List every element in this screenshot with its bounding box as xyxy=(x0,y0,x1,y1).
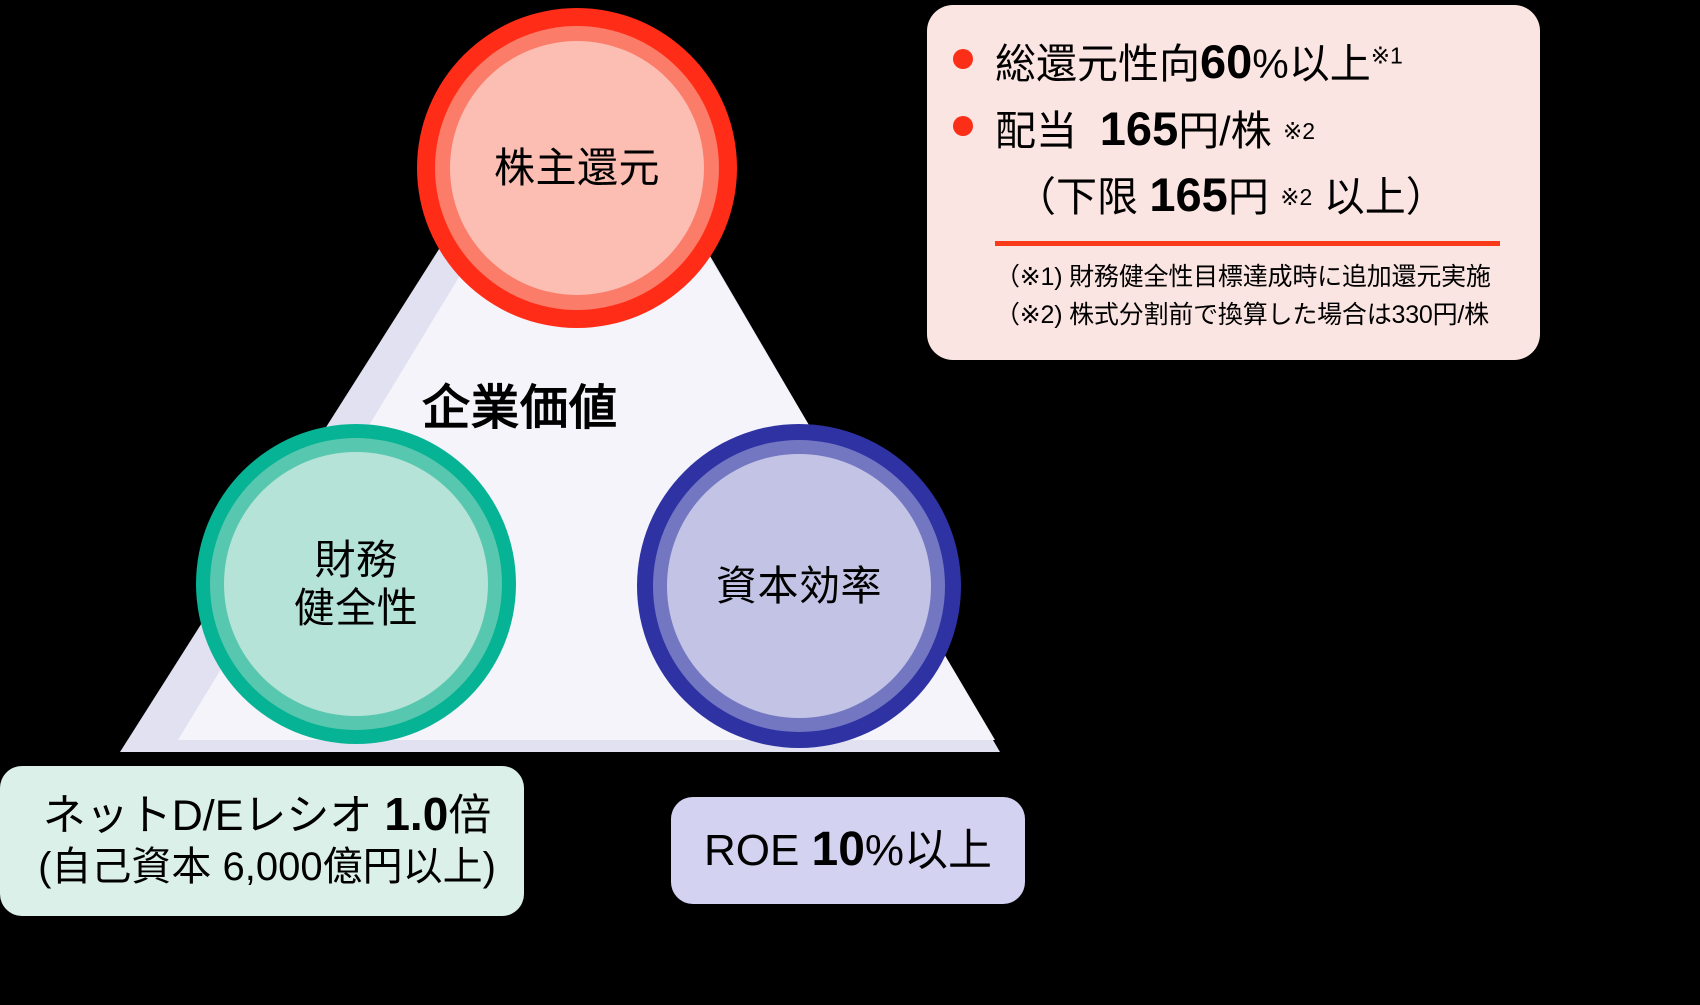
kpi-value: 60 xyxy=(1200,35,1252,88)
net-de-ratio-unit: 倍 xyxy=(448,792,491,840)
kpi-note-ref: ※1 xyxy=(1371,42,1403,68)
dividend-floor-value: 165 xyxy=(1149,168,1227,221)
net-de-ratio-label: ネットD/Eレシオ xyxy=(43,792,385,840)
net-de-ratio-value: 1.0 xyxy=(384,788,448,840)
kpi-bullet-total-payout-ratio: 総還元性向60%以上※1 xyxy=(953,29,1514,96)
kpi-label: 総還元性向 xyxy=(995,41,1200,87)
roe-value: 10 xyxy=(812,823,865,876)
kpi-unit: %以上 xyxy=(1252,41,1370,87)
bullet-dot-icon xyxy=(953,116,973,136)
kpi-box-net-de-ratio: ネットD/Eレシオ 1.0倍 (自己資本 6,000億円以上) xyxy=(0,766,524,916)
dividend-floor-prefix: （下限 xyxy=(1015,174,1138,220)
node-capital-efficiency[interactable]: 資本効率 xyxy=(637,424,961,748)
panel-footnotes: （※1) 財務健全性目標達成時に追加還元実施 （※2) 株式分割前で換算した場合… xyxy=(953,258,1514,334)
node-label-financial-soundness: 財務 健全性 xyxy=(294,536,419,633)
node-shareholder-return[interactable]: 株主還元 xyxy=(417,8,737,328)
dividend-floor-note-ref: ※2 xyxy=(1280,184,1312,210)
node-label-capital-efficiency: 資本効率 xyxy=(716,562,882,610)
kpi-bullet-text: 配当 165円/株 ※2 xyxy=(995,96,1315,163)
roe-line1: ROE 10%以上 xyxy=(704,824,992,877)
panel-divider xyxy=(995,241,1500,246)
shareholder-return-kpi-panel: 総還元性向60%以上※1 配当 165円/株 ※2 （下限 165円 ※2 以上… xyxy=(927,5,1540,360)
kpi-value: 165 xyxy=(1100,102,1178,155)
dividend-floor-suffix: 以上） xyxy=(1324,174,1447,220)
kpi-note-ref: ※2 xyxy=(1283,118,1315,144)
kpi-bullet-dividend: 配当 165円/株 ※2 xyxy=(953,96,1514,163)
node-label-shareholder-return: 株主還元 xyxy=(494,144,660,192)
node-financial-soundness[interactable]: 財務 健全性 xyxy=(196,424,516,744)
kpi-bullet-text: 総還元性向60%以上※1 xyxy=(995,29,1403,96)
bullet-dot-icon xyxy=(953,49,973,69)
dividend-floor-unit: 円 xyxy=(1228,174,1269,220)
kpi-box-roe: ROE 10%以上 xyxy=(671,797,1025,904)
kpi-unit: 円/株 xyxy=(1178,108,1271,154)
diagram-canvas: 企業価値 株主還元 財務 健全性 資本効率 総還元性向60%以上※1 配当 16… xyxy=(0,0,1700,1005)
roe-label: ROE xyxy=(704,826,812,875)
footnote-2: （※2) 株式分割前で換算した場合は330円/株 xyxy=(995,296,1514,334)
net-de-ratio-line1: ネットD/Eレシオ 1.0倍 xyxy=(43,789,492,841)
kpi-dividend-floor: （下限 165円 ※2 以上） xyxy=(1015,164,1514,227)
kpi-label: 配当 xyxy=(995,108,1077,154)
net-de-ratio-line2: (自己資本 6,000億円以上) xyxy=(38,841,496,893)
center-label: 企業価値 xyxy=(0,368,1040,438)
roe-unit: %以上 xyxy=(865,826,992,875)
footnote-1: （※1) 財務健全性目標達成時に追加還元実施 xyxy=(995,258,1514,296)
